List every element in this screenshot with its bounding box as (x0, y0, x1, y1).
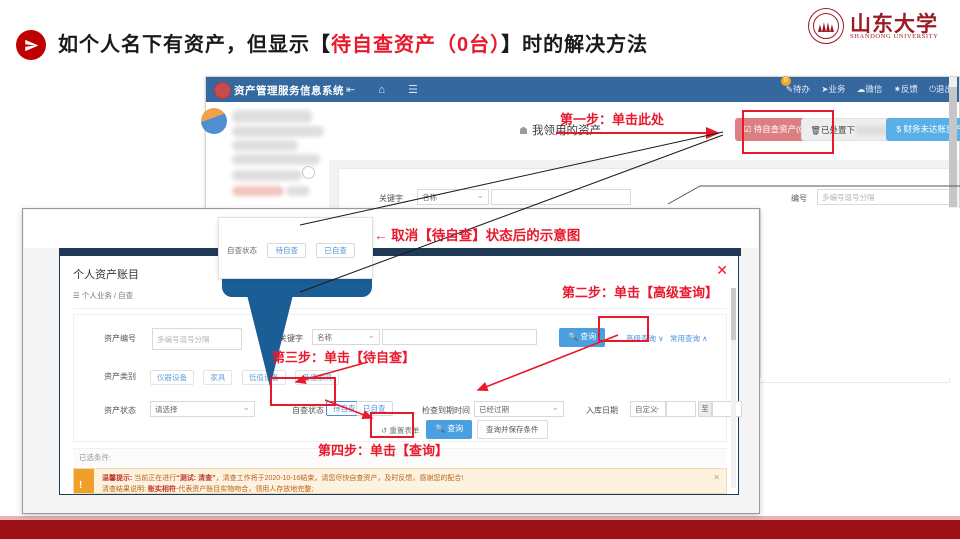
notice-l1c: ，清查工作将于2020-10-16结束，请您尽快自查资产，及时反馈，感谢您的配合… (216, 475, 464, 482)
university-name-en: SHANDONG UNIVERSITY (850, 33, 939, 40)
dialog-title: 个人资产账目 (73, 266, 139, 282)
nav-item-business[interactable]: ➤业务 (821, 83, 845, 95)
page-title-suffix: 】时的解决方法 (501, 34, 648, 56)
university-seal-icon (808, 8, 844, 44)
number-label: 编号 (791, 193, 807, 204)
nav-item-feedback-label: 反馈 (901, 84, 918, 94)
callout-pending-button[interactable]: 待自查 (267, 243, 306, 258)
save-condition-button[interactable]: 查询并保存条件 (477, 420, 548, 439)
app-top-navbar: 资产管理服务信息系统 ⇤ ⌂ ☰ 0 ✎待办 ➤业务 ☁微信 ✷反馈 ⏻退出 (206, 77, 959, 102)
annotation-step-4: 第四步：单击【查询】 (318, 440, 448, 459)
number-input-placeholder: 多编号逗号分隔 (822, 193, 875, 202)
callout-done-button[interactable]: 已自查 (316, 243, 355, 258)
nav-item-todo-label: 待办 (793, 84, 810, 94)
notice-line-1: 温馨提示: 当前正在进行“测试: 清查”，清查工作将于2020-10-16结束，… (102, 473, 463, 483)
notice-l2c: -代表资产账目实物吻合，领用人存放地完整; (176, 486, 313, 493)
keyword-label: 关键字 (379, 193, 403, 204)
annotation-step-2: 第二步：单击【高级查询】 (562, 282, 718, 301)
highlight-box-advanced-search (598, 316, 649, 342)
category-pill-furniture[interactable]: 家具 (203, 370, 232, 385)
gear-icon (302, 166, 315, 179)
todo-badge: 0 (781, 76, 791, 86)
common-search-link[interactable]: 常用查询 ∧ (670, 333, 708, 344)
callout-tail (222, 279, 372, 297)
asset-status-value: 请选择 (155, 405, 178, 414)
form-keyword-select[interactable]: 名称 (312, 329, 380, 345)
app-name: 资产管理服务信息系统 (234, 83, 344, 98)
notice-l1b: “测试: 清查” (176, 475, 215, 482)
app-logo-icon (214, 82, 231, 99)
university-logo: 山东大学 SHANDONG UNIVERSITY (802, 6, 952, 48)
notice-line-2: 清查结果说明: 账实相符-代表资产账目实物吻合，领用人存放地完整; (102, 484, 313, 494)
keyword-select-value: 名称 (422, 193, 437, 202)
page-title-prefix: 如个人名下有资产，但显示【 (58, 34, 331, 56)
callout-pointer (247, 295, 293, 387)
footer-bar (0, 520, 960, 539)
instock-label: 入库日期 (586, 405, 618, 416)
highlight-box-submit (370, 412, 414, 438)
asset-no-placeholder: 多编号逗号分隔 (157, 335, 210, 344)
submit-search-label: 查询 (447, 424, 463, 433)
feedback-icon: ✷ (894, 84, 901, 94)
slide-root: 如个人名下有资产，但显示【待自查资产（0台）】时的解决方法 山东大学 SHAND… (0, 0, 960, 539)
keyword-input[interactable] (491, 189, 631, 205)
highlight-box-selfcheck (270, 377, 336, 406)
expire-label: 检查到期时间 (422, 405, 470, 416)
category-pill-instrument[interactable]: 仪器设备 (150, 370, 194, 385)
callout-row: 自查状态 待自查 已自查 (227, 240, 355, 258)
notice-l1a: 当前正在进行 (134, 475, 176, 482)
page-title-highlight: 待自查资产（0台） (331, 34, 501, 56)
warning-icon: ! (74, 469, 94, 493)
background-panel-peek (760, 208, 960, 378)
user-icon: ☗ (519, 126, 528, 137)
app-nav-icons[interactable]: ⇤ ⌂ ☰ (346, 83, 428, 96)
expire-select[interactable]: 已经过期 (474, 401, 564, 417)
nav-item-business-label: 业务 (828, 84, 845, 94)
annotation-step-3: 第三步：单击【待自查】 (272, 347, 415, 366)
power-icon: ⏻ (929, 84, 936, 94)
menu-icon: ☰ (73, 291, 80, 300)
asset-status-label: 资产状态 (104, 405, 136, 416)
app-nav-right[interactable]: 0 ✎待办 ➤业务 ☁微信 ✷反馈 ⏻退出 (777, 83, 953, 95)
notice-l2a: 清查结果说明: (102, 486, 146, 493)
form-keyword-select-value: 名称 (317, 333, 332, 342)
notice-title: 温馨提示: (102, 475, 132, 482)
send-icon (16, 30, 46, 60)
notice-banner: ! 温馨提示: 当前正在进行“测试: 清查”，清查工作将于2020-10-16结… (73, 468, 727, 494)
dollar-icon: $ (896, 124, 901, 134)
instock-to-label: 至 (698, 401, 712, 417)
highlight-box-step1 (742, 110, 834, 154)
nav-item-wechat-label: 微信 (865, 84, 882, 94)
form-keyword-input[interactable] (382, 329, 537, 345)
search-button-label: 查询 (580, 332, 596, 341)
keyword-select[interactable]: 名称 (417, 189, 489, 205)
search-icon: 🔍 (568, 332, 578, 341)
nav-item-todo[interactable]: 0 ✎待办 (786, 83, 810, 95)
callout-label: 自查状态 (227, 246, 257, 255)
instock-mode-value: 自定义 (635, 405, 658, 414)
asset-status-select[interactable]: 请选择 (150, 401, 255, 417)
selfcheck-callout: 自查状态 待自查 已自查 (218, 217, 373, 279)
close-icon[interactable]: ✕ (713, 473, 720, 482)
expire-value: 已经过期 (479, 405, 509, 414)
notice-l2b: 账实相符 (148, 486, 176, 493)
instock-from-input[interactable] (666, 401, 696, 417)
nav-item-feedback[interactable]: ✷反馈 (894, 83, 918, 95)
category-label: 资产类别 (104, 371, 136, 382)
breadcrumb-label: 个人业务 / 自查 (82, 291, 133, 300)
dialog-scrollbar[interactable] (731, 288, 736, 488)
search-icon: 🔍 (435, 424, 445, 433)
annotation-cancel-note: ← 取消【待自查】状态后的示意图 (374, 224, 580, 244)
selfcheck-status-label: 自查状态 (292, 405, 324, 416)
asset-no-label: 资产编号 (104, 333, 136, 344)
annotation-step-1: 第一步：单击此处 (560, 109, 664, 128)
instock-to-input[interactable] (712, 401, 742, 417)
asset-no-input[interactable]: 多编号逗号分隔 (152, 328, 242, 350)
number-input[interactable]: 多编号逗号分隔 (817, 189, 957, 205)
close-icon[interactable]: ✕ (716, 262, 728, 279)
nav-item-wechat[interactable]: ☁微信 (857, 83, 883, 95)
avatar (201, 108, 227, 134)
page-title: 如个人名下有资产，但显示【待自查资产（0台）】时的解决方法 (58, 28, 648, 57)
instock-mode-select[interactable]: 自定义 (630, 401, 666, 417)
submit-search-button[interactable]: 🔍 查询 (426, 420, 472, 439)
